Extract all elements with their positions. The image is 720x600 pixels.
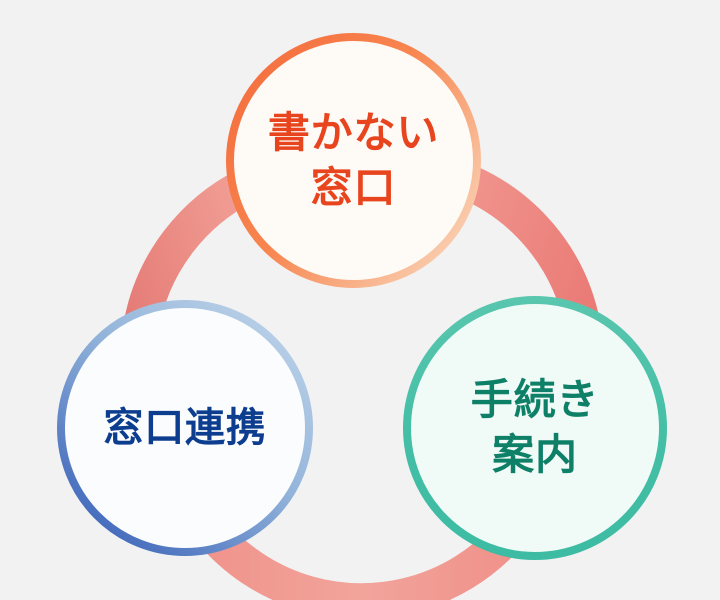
venn-triad-diagram: 書かない 窓口 窓口連携 手続き 案内 [0,0,720,600]
node-circle-kakanai-madoguchi[interactable] [230,37,477,284]
node-circle-tetsuzuki-annai[interactable] [407,300,663,556]
diagram-canvas [0,0,720,600]
node-circle-madoguchi-renkei[interactable] [61,304,309,552]
